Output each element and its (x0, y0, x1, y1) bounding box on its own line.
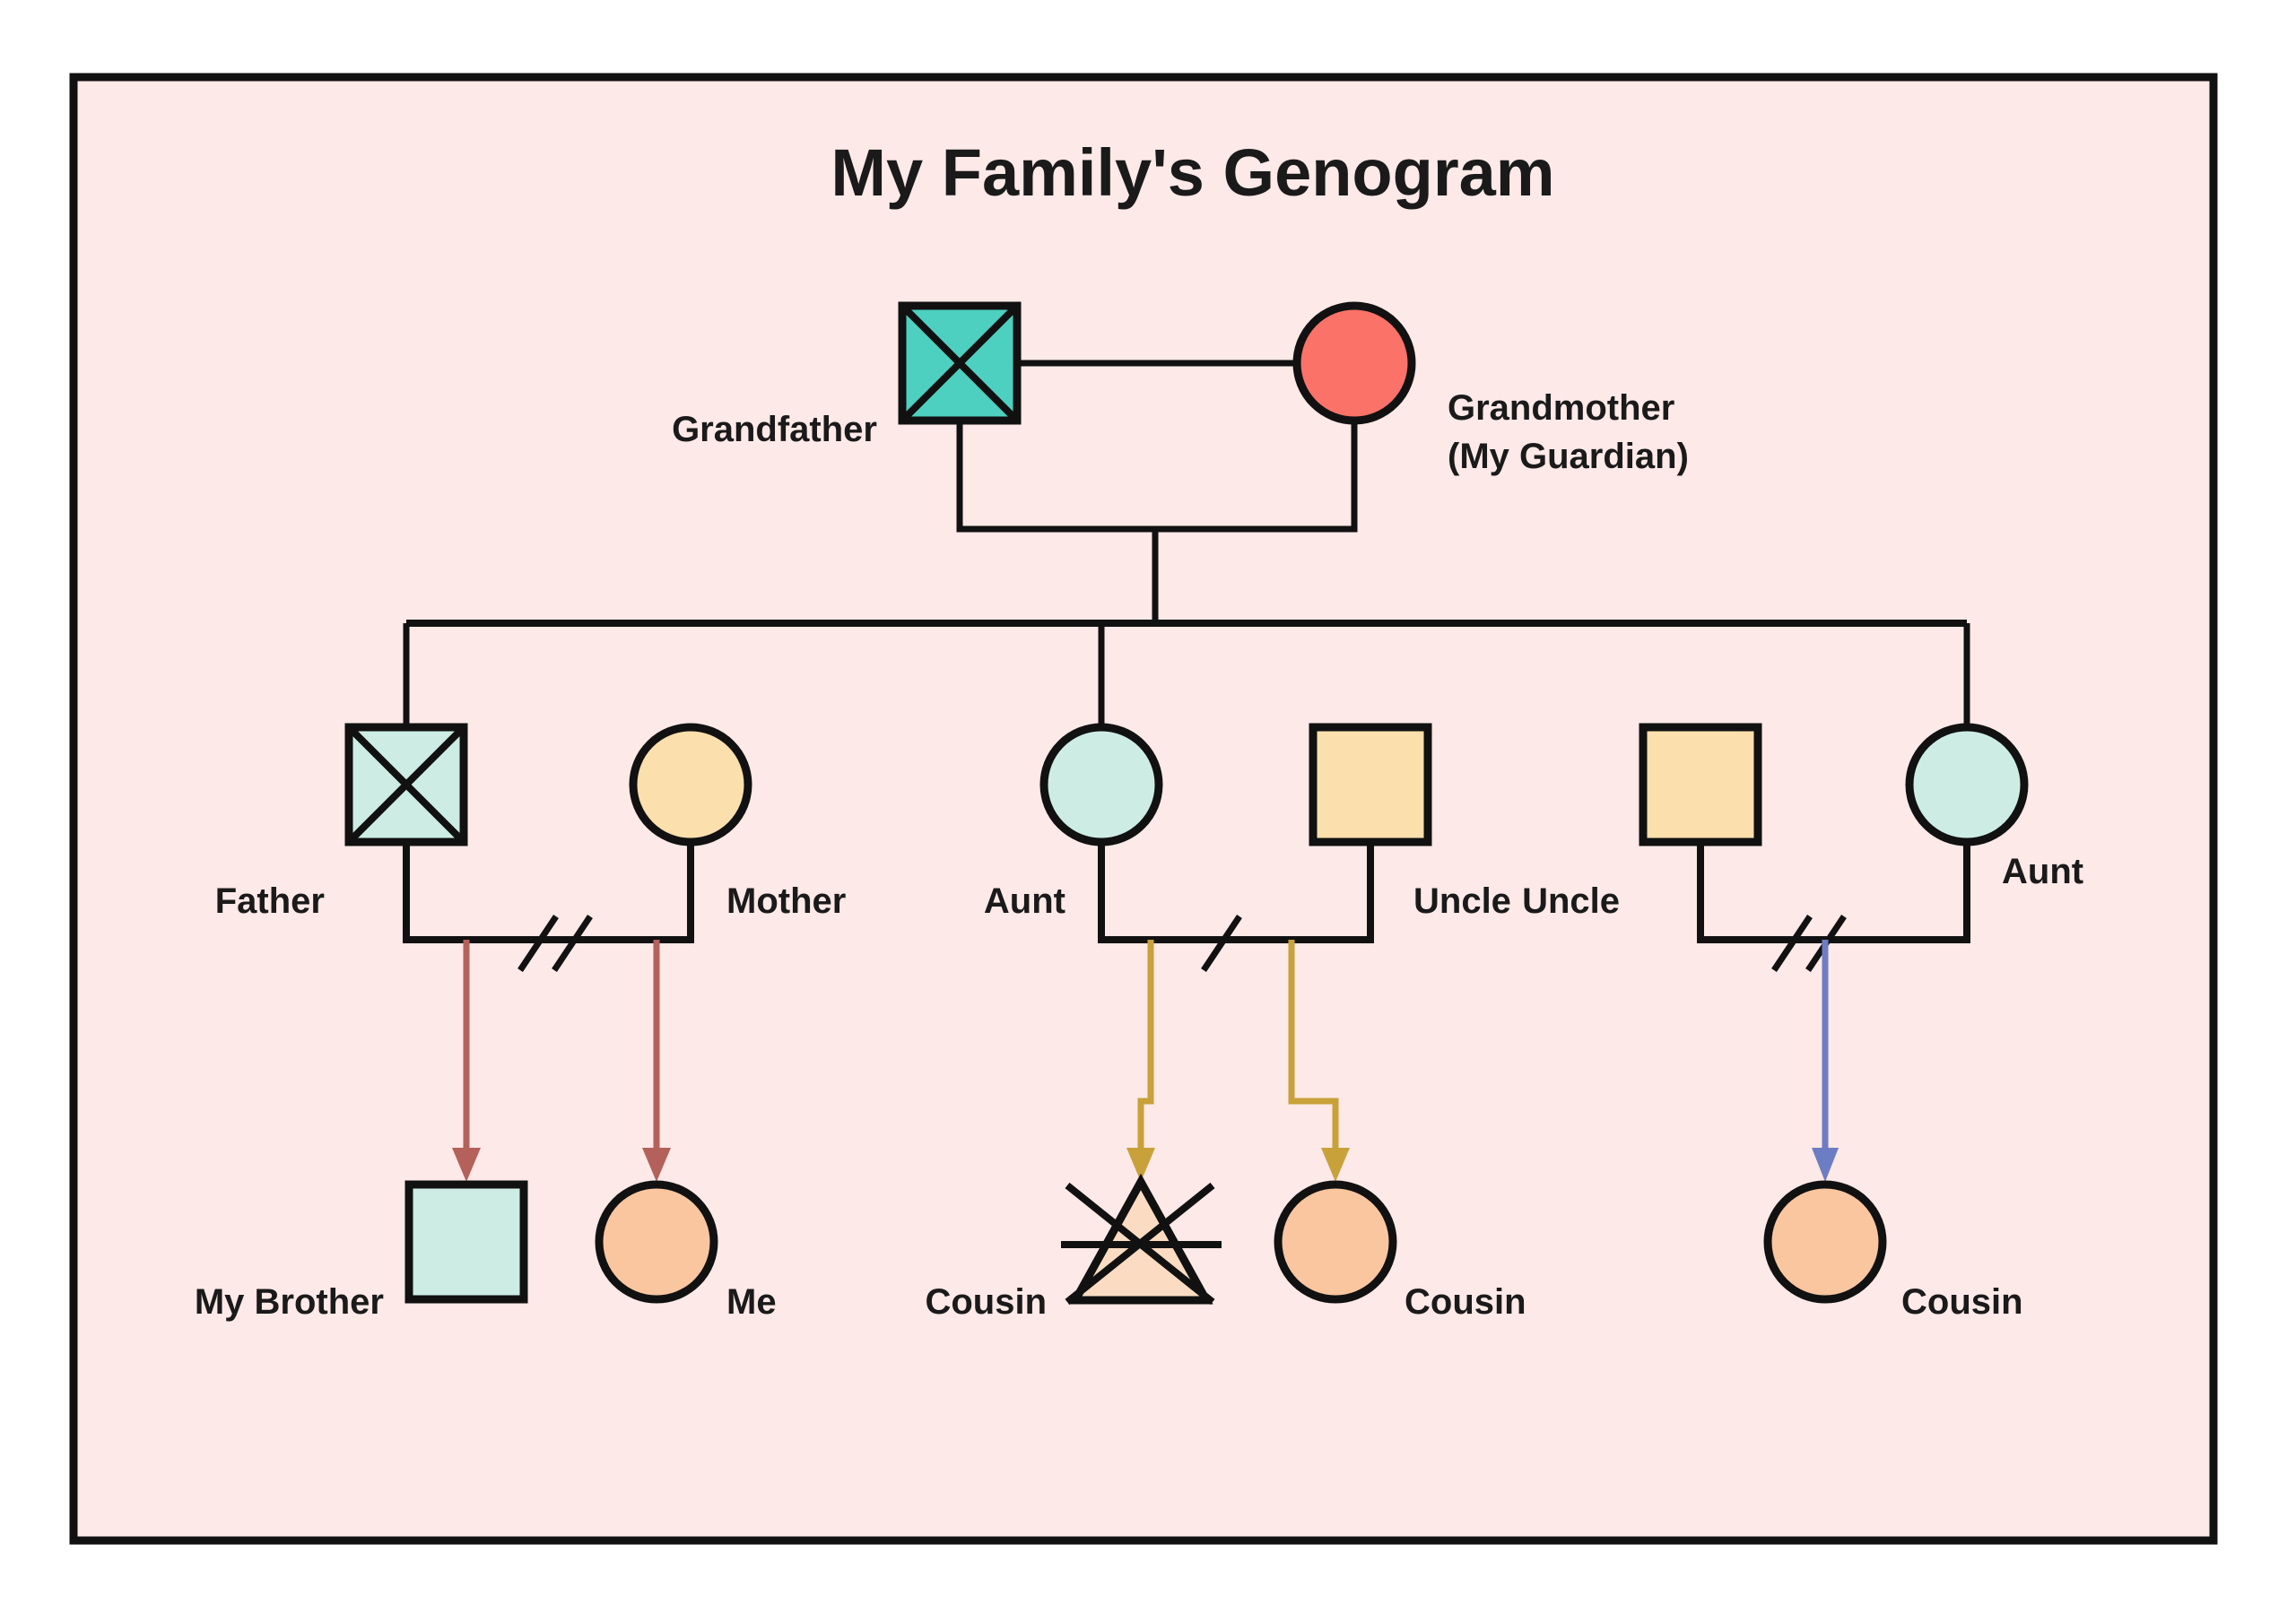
aunt-right-label: Aunt (2002, 852, 2083, 891)
page-title: My Family's Genogram (831, 135, 1554, 210)
my-brother-square-shape (409, 1185, 524, 1299)
mother-label: Mother (726, 881, 846, 921)
grandmother-label-line1: Grandmother (1448, 388, 1674, 428)
father-label: Father (215, 881, 325, 921)
genogram-canvas: My Family's Genogram Grandfather Grandmo… (0, 0, 2296, 1623)
cousin-left-label: Cousin (925, 1282, 1047, 1322)
cousin-mid-label: Cousin (1405, 1282, 1526, 1322)
uncle-right-square-shape (1643, 727, 1758, 842)
genogram-diagram: My Family's Genogram Grandfather Grandmo… (0, 0, 2296, 1623)
cousin-mid-circle-shape (1278, 1185, 1393, 1299)
cousin-right-label: Cousin (1901, 1282, 2023, 1322)
aunt-mid-label: Aunt (984, 881, 1065, 921)
me-label: Me (726, 1282, 777, 1322)
my-brother-label: My Brother (195, 1282, 384, 1322)
mother-circle-shape (633, 727, 748, 842)
uncle-mid-square-shape (1313, 727, 1428, 842)
uncle-mid-label: Uncle (1413, 881, 1511, 921)
aunt-right-circle-shape (1909, 727, 2024, 842)
grandfather-label: Grandfather (672, 410, 877, 449)
aunt-mid-circle-shape (1044, 727, 1159, 842)
grandmother-circle-shape (1297, 306, 1412, 421)
me-circle-shape (599, 1185, 714, 1299)
uncle-right-label: Uncle (1522, 881, 1620, 921)
grandmother-label-line2: (My Guardian) (1448, 437, 1689, 476)
cousin-right-circle-shape (1768, 1185, 1883, 1299)
